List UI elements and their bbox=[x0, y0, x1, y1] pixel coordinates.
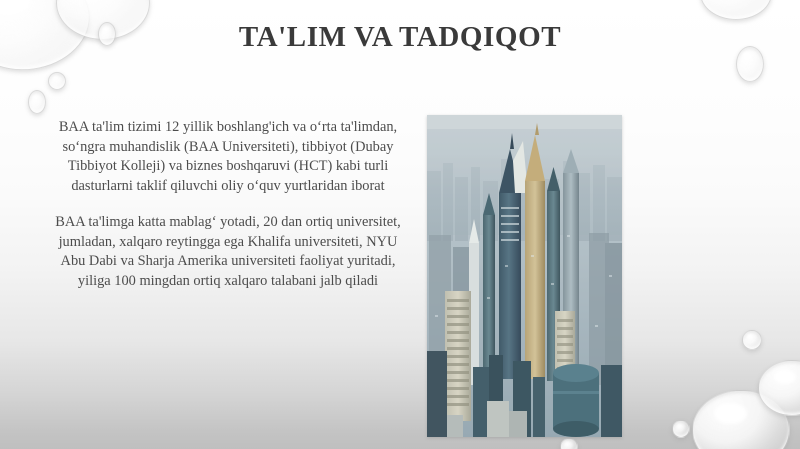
water-drop-icon bbox=[672, 420, 690, 438]
water-drop-icon bbox=[758, 360, 800, 416]
water-drop-icon bbox=[48, 72, 66, 90]
dubai-skyline-photo bbox=[427, 115, 622, 437]
slide-canvas: TA'LIM VA TADQIQOT BAA ta'lim tizimi 12 … bbox=[0, 0, 800, 449]
water-drop-icon bbox=[742, 330, 762, 350]
water-drop-icon bbox=[560, 438, 578, 449]
body-paragraph-2: BAA ta'limga katta mablagʻ yotadi, 20 da… bbox=[52, 213, 404, 292]
water-drop-icon bbox=[28, 90, 46, 114]
slide-title: TA'LIM VA TADQIQOT bbox=[0, 22, 800, 54]
slide-body-text: BAA ta'lim tizimi 12 yillik boshlang'ich… bbox=[52, 118, 404, 292]
skyline-illustration bbox=[427, 115, 622, 437]
water-drop-icon bbox=[692, 390, 790, 449]
water-drop-icon bbox=[700, 0, 772, 20]
body-paragraph-1: BAA ta'lim tizimi 12 yillik boshlang'ich… bbox=[52, 118, 404, 197]
